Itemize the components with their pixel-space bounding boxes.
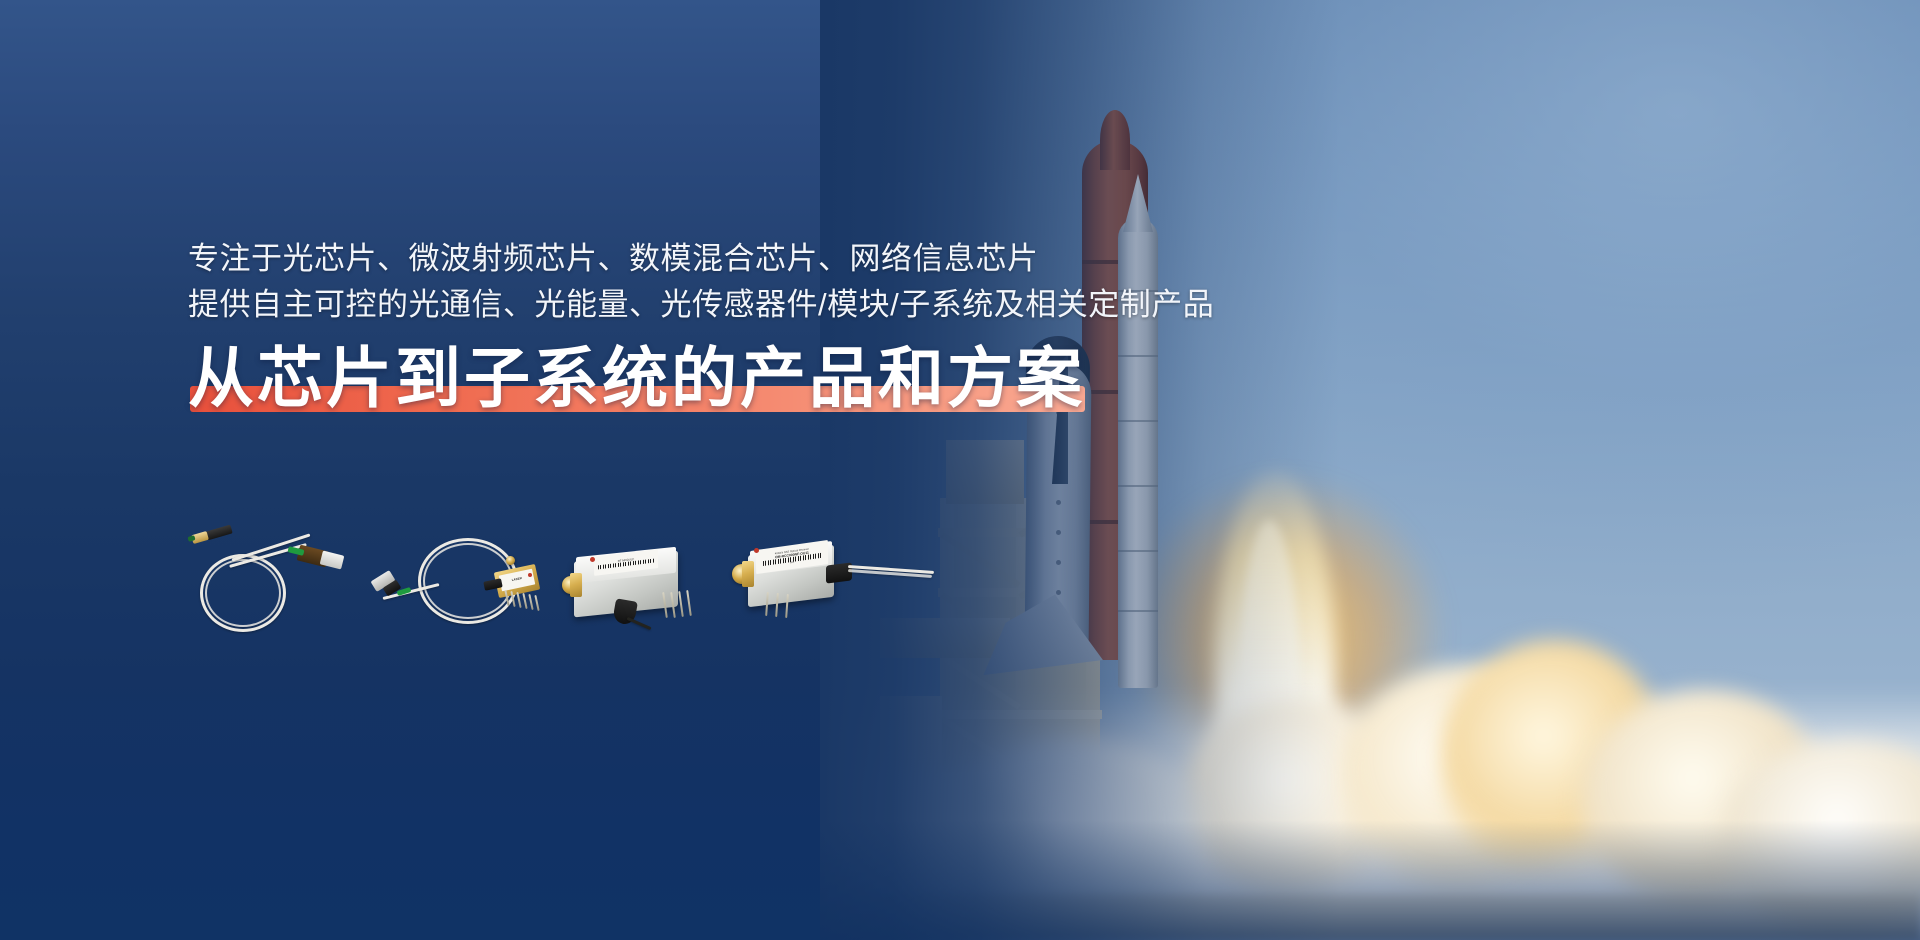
product-rf-metal-module: RF MODULE	[560, 542, 710, 652]
product-fiber-pigtail-coil	[188, 524, 368, 644]
ground-strip	[820, 894, 1920, 940]
product-optical-receiver-module: 40Gb/s NRZ Optical Reciever OM-RCC000NF-…	[718, 534, 938, 654]
page-title: 从芯片到子系统的产品和方案	[188, 342, 1085, 416]
headline-wrap: 从芯片到子系统的产品和方案	[188, 342, 1085, 416]
product-butterfly-laser-module: LASER	[360, 530, 560, 660]
banner-copy: 专注于光芯片、微波射频芯片、数模混合芯片、网络信息芯片 提供自主可控的光通信、光…	[188, 236, 1214, 416]
module-label-serial: S/N:	[790, 562, 794, 565]
tagline-line-2: 提供自主可控的光通信、光能量、光传感器件/模块/子系统及相关定制产品	[188, 282, 1214, 328]
hero-banner: 专注于光芯片、微波射频芯片、数模混合芯片、网络信息芯片 提供自主可控的光通信、光…	[0, 0, 1920, 940]
product-showcase: LASER RF MODULE	[188, 524, 1088, 664]
tagline-line-1: 专注于光芯片、微波射频芯片、数模混合芯片、网络信息芯片	[188, 236, 1214, 282]
launch-photo	[820, 0, 1920, 940]
